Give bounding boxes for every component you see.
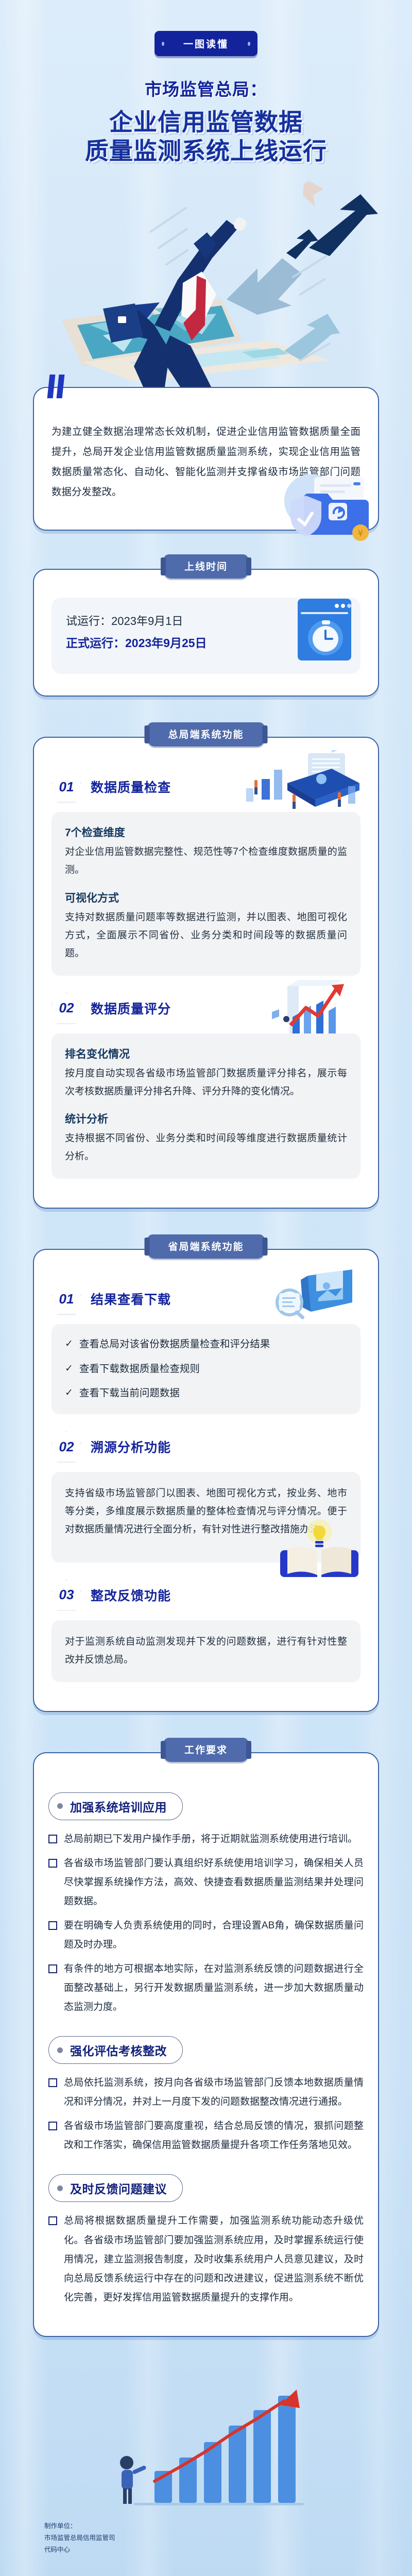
feature-body-box: ✓ 查看总局对该省份数据质量检查和评分结果 ✓ 查看下载数据质量检查规则 ✓ 查… <box>51 1324 360 1414</box>
requirement-group-header: 及时反馈问题建议 <box>48 2174 183 2202</box>
feature-sub-body: 支持根据不同省份、业务分类和时间段等维度进行数据质量统计分析。 <box>65 1129 347 1165</box>
list-item: 总局依托监测系统，按月向各省级市场监管部门反馈本地数据质量情况和评分情况，并对上… <box>48 2073 364 2111</box>
list-item: 总局前期已下发用户操作手册，将于近期就监测系统使用进行培训。 <box>48 1829 364 1849</box>
growth-chart-illustration <box>0 2361 412 2515</box>
bullet-icon <box>57 2185 63 2191</box>
list-item-label: 各省级市场监管部门要认真组织好系统使用培训学习，确保相关人员尽快掌握系统操作方法… <box>64 1854 364 1911</box>
shield-folder-icon: ¥ <box>264 472 372 549</box>
infographic-page: 一图读懂 市场监管总局： 企业信用监管数据 质量监测系统上线运行 <box>0 0 412 2576</box>
feature-body-box: 对于监测系统自动监测发现并下发的问题数据，进行有针对性整改并反馈总局。 <box>51 1620 360 1682</box>
square-bullet-icon <box>48 1921 57 1930</box>
feature-title: 溯源分析功能 <box>91 1437 171 1456</box>
square-bullet-icon <box>48 2216 57 2225</box>
check-icon: ✓ <box>65 1336 73 1351</box>
requirement-list: 总局前期已下发用户操作手册，将于近期就监测系统使用进行培训。 各省级市场监管部门… <box>48 1829 364 2016</box>
list-item: 要在明确专人负责系统使用的同时，合理设置AB角，确保数据质量问题及时办理。 <box>48 1916 364 1954</box>
hero-illustration <box>0 171 412 387</box>
requirements-tab: 工作要求 <box>164 1738 248 1762</box>
feature-block: 02 溯源分析功能 支持省级市场监管部门以图表、地图可视化方式，按业务、地市等分… <box>49 1428 363 1562</box>
ribbon-label: 一图读懂 <box>183 39 229 50</box>
feature-number-badge: 03 <box>51 1579 81 1611</box>
ribbon-badge: 一图读懂 <box>154 31 257 56</box>
requirement-group-title: 加强系统培训应用 <box>70 1798 167 1815</box>
requirement-group: 及时反馈问题建议 总局将根据数据质量提升工作需要，加强监测系统功能动态升级优化。… <box>48 2166 364 2307</box>
feature-sub-body: 支持对数据质量问题率等数据进行监测，并以图表、地图可视化方式，全面展示不同省份、… <box>65 908 347 962</box>
chart-baseline <box>134 2503 304 2505</box>
bureau-section-tab: 总局端系统功能 <box>147 722 264 747</box>
feature-body-box: 支持省级市场监管部门以图表、地图可视化方式，按业务、地市等分类，多维度展示数据质… <box>51 1472 360 1562</box>
launch-time-card: 上线时间 试运行：2023年9月1日 正式运行：2023年9月25日 <box>33 569 379 697</box>
list-item-label: 查看下载数据质量检查规则 <box>79 1361 200 1377</box>
feature-title: 整改反馈功能 <box>91 1586 171 1604</box>
requirements-card: 工作要求 加强系统培训应用 总局前期已下发用户操作手册，将于近期就监测系统使用进… <box>33 1752 379 2337</box>
requirement-group-header: 强化评估考核整改 <box>48 2036 183 2064</box>
square-bullet-icon <box>48 1835 57 1843</box>
feature-number-badge: 01 <box>51 771 81 803</box>
feature-sub-title: 7个检查维度 <box>65 824 347 840</box>
square-bullet-icon <box>48 2078 57 2087</box>
feature-block: 01 数据质量检查 <box>49 768 363 976</box>
page-subtitle: 市场监管总局： <box>0 76 412 100</box>
requirement-group-title: 强化评估考核整改 <box>70 2041 167 2059</box>
feature-sub-body: 对于监测系统自动监测发现并下发的问题数据，进行有针对性整改并反馈总局。 <box>65 1633 347 1669</box>
page-title: 企业信用监管数据 质量监测系统上线运行 <box>0 108 412 165</box>
square-bullet-icon <box>48 2122 57 2130</box>
bureau-section-card: 总局端系统功能 01 数据质量检查 <box>33 737 379 1209</box>
requirement-group: 加强系统培训应用 总局前期已下发用户操作手册，将于近期就监测系统使用进行培训。 … <box>48 1784 364 2016</box>
list-item-label: 查看总局对该省份数据质量检查和评分结果 <box>79 1336 270 1352</box>
province-section-tab: 省局端系统功能 <box>147 1234 264 1259</box>
intro-card: 为建立健全数据治理常态长效机制，促进企业信用监管数据质量全面提升，总局开发企业信… <box>33 387 379 531</box>
launch-time-tab: 上线时间 <box>164 554 248 579</box>
list-item-label: 要在明确专人负责系统使用的同时，合理设置AB角，确保数据质量问题及时办理。 <box>64 1916 364 1954</box>
check-icon: ✓ <box>65 1385 73 1400</box>
feature-block: 02 数据质量评分 <box>49 989 363 1179</box>
feature-sub-body: 对企业信用监管数据完整性、规范性等7个检查维度数据质量的监测。 <box>65 843 347 879</box>
feature-block: 03 整改反馈功能 对于监测系统自动监测发现并下发的问题数据，进行有针对性整改并… <box>49 1576 363 1682</box>
credits-block: 制作单位： 市场监管总局信用监管司 代码中心 <box>44 2520 412 2556</box>
list-item: 各省级市场监管部门要认真组织好系统使用培训学习，确保相关人员尽快掌握系统操作方法… <box>48 1854 364 1911</box>
credit-line-1: 制作单位： <box>44 2520 412 2532</box>
page-title-line1: 企业信用监管数据 <box>0 108 412 137</box>
list-item: ✓ 查看总局对该省份数据质量检查和评分结果 <box>65 1336 347 1352</box>
feature-body-box: 7个检查维度 对企业信用监管数据完整性、规范性等7个检查维度数据质量的监测。 可… <box>51 812 360 976</box>
feature-number-badge: 01 <box>51 1283 81 1315</box>
feature-block: 01 结果查看下载 ✓ <box>49 1280 363 1414</box>
bullet-icon <box>57 2047 63 2053</box>
feature-number-badge: 02 <box>51 992 81 1024</box>
ribbon-dot-left <box>162 42 164 46</box>
check-icon: ✓ <box>65 1361 73 1376</box>
square-bullet-icon <box>48 1859 57 1868</box>
feature-number-badge: 02 <box>51 1431 81 1463</box>
list-item-label: 总局前期已下发用户操作手册，将于近期就监测系统使用进行培训。 <box>64 1829 357 1849</box>
book-lightbulb-icon <box>273 1513 366 1585</box>
requirement-list: 总局依托监测系统，按月向各省级市场监管部门反馈本地数据质量情况和评分情况，并对上… <box>48 2073 364 2155</box>
list-item: 各省级市场监管部门要高度重视，结合总局反馈的情况，狠抓问题整改和工作落实，确保信… <box>48 2116 364 2155</box>
launch-time-inner: 试运行：2023年9月1日 正式运行：2023年9月25日 <box>51 598 360 674</box>
feature-sub-body: 按月度自动实现各省级市场监管部门数据质量评分排名，展示每次考核数据质量评分排名升… <box>65 1064 347 1100</box>
list-item-label: 总局依托监测系统，按月向各省级市场监管部门反馈本地数据质量情况和评分情况，并对上… <box>64 2073 364 2111</box>
list-item-label: 总局将根据数据质量提升工作需要，加强监测系统功能动态升级优化。各省级市场监管部门… <box>64 2211 364 2307</box>
feature-title: 结果查看下载 <box>91 1290 171 1308</box>
feature-title: 数据质量检查 <box>91 777 171 796</box>
credit-line-2: 市场监管总局信用监管司 <box>44 2532 412 2544</box>
requirement-group-title: 及时反馈问题建议 <box>70 2179 167 2197</box>
list-item: 有条件的地方可根据本地实际，在对监测系统反馈的问题数据进行全面整改基础上，另行开… <box>48 1959 364 2016</box>
credit-line-3: 代码中心 <box>44 2544 412 2556</box>
province-section-card: 省局端系统功能 01 结果查看下载 <box>33 1249 379 1711</box>
feature-sub-title: 可视化方式 <box>65 890 347 905</box>
hero-header: 一图读懂 市场监管总局： 企业信用监管数据 质量监测系统上线运行 <box>0 0 412 165</box>
list-item-label: 查看下载当前问题数据 <box>79 1385 180 1401</box>
list-item-label: 有条件的地方可根据本地实际，在对监测系统反馈的问题数据进行全面整改基础上，另行开… <box>64 1959 364 2016</box>
quote-mark-icon <box>48 375 63 398</box>
footer: 市新 说语 市场监管总局新媒体账号 <box>0 2569 412 2576</box>
feature-body-box: 排名变化情况 按月度自动实现各省级市场监管部门数据质量评分排名，展示每次考核数据… <box>51 1033 360 1179</box>
list-item: ✓ 查看下载数据质量检查规则 <box>65 1361 347 1377</box>
clock-window-icon <box>294 596 355 664</box>
list-item: 总局将根据数据质量提升工作需要，加强监测系统功能动态升级优化。各省级市场监管部门… <box>48 2211 364 2307</box>
svg-text:¥: ¥ <box>358 529 364 539</box>
person-shape <box>120 2456 147 2504</box>
feature-title: 数据质量评分 <box>91 999 171 1018</box>
requirement-group-header: 加强系统培训应用 <box>48 1792 183 1820</box>
square-bullet-icon <box>48 1964 57 1973</box>
bullet-icon <box>57 1803 63 1809</box>
feature-sub-title: 排名变化情况 <box>65 1046 347 1061</box>
requirement-list: 总局将根据数据质量提升工作需要，加强监测系统功能动态升级优化。各省级市场监管部门… <box>48 2211 364 2307</box>
ribbon-dot-right <box>248 42 250 46</box>
checklist: ✓ 查看总局对该省份数据质量检查和评分结果 ✓ 查看下载数据质量检查规则 ✓ 查… <box>65 1336 347 1401</box>
page-title-line2: 质量监测系统上线运行 <box>0 137 412 165</box>
list-item-label: 各省级市场监管部门要高度重视，结合总局反馈的情况，狠抓问题整改和工作落实，确保信… <box>64 2116 364 2155</box>
bar-series <box>154 2396 296 2503</box>
feature-sub-title: 统计分析 <box>65 1111 347 1126</box>
list-item: ✓ 查看下载当前问题数据 <box>65 1385 347 1401</box>
requirement-group: 强化评估考核整改 总局依托监测系统，按月向各省级市场监管部门反馈本地数据质量情况… <box>48 2028 364 2155</box>
